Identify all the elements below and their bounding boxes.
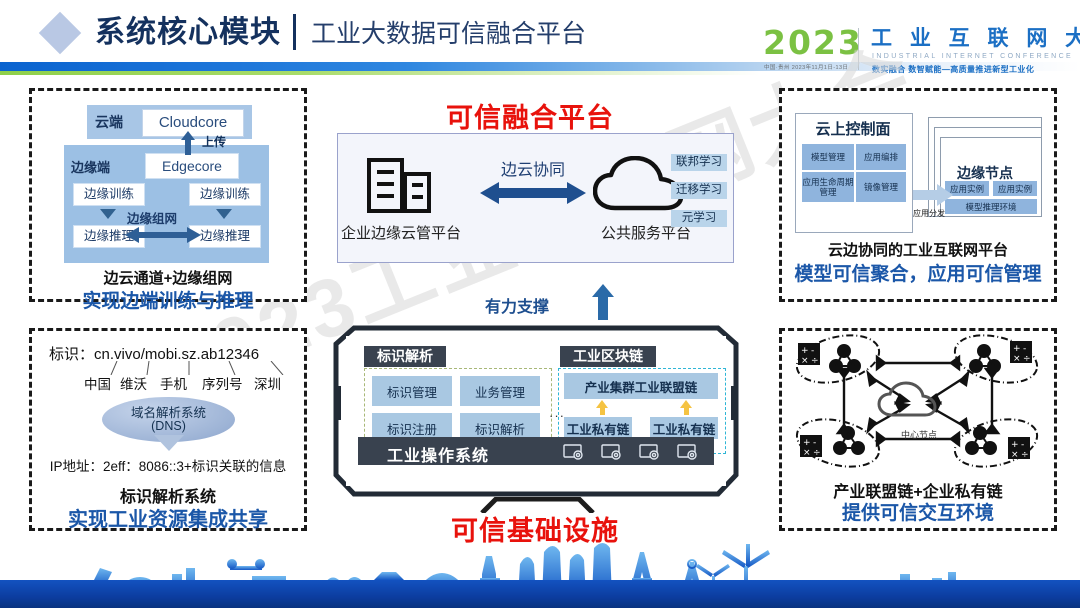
panel-cloud-edge-collaboration: 云上控制面 模型管理 应用编排 应用生命周期管理 镜像管理 边缘节点 应用实例 …	[779, 88, 1057, 302]
svg-text:÷: ÷	[813, 448, 821, 458]
control-cell-model-management: 模型管理	[801, 143, 855, 171]
control-cell-app-lifecycle: 应用生命周期管理	[801, 171, 855, 203]
title-separator	[293, 14, 296, 50]
svg-text:+: +	[801, 346, 809, 356]
identifier-legend-brand: 维沃	[120, 373, 147, 393]
svg-text:÷: ÷	[1023, 354, 1031, 364]
slide-canvas: 系统核心模块 工业大数据可信融合平台 2023 中国·贵州 2023年11月1日…	[0, 0, 1080, 608]
chain-ellipsis: ···	[549, 408, 565, 423]
upload-arrow-head-icon	[181, 131, 195, 140]
identifier-legend-serial: 序列号	[202, 373, 243, 393]
edge-right-down-arrow-icon	[216, 209, 232, 219]
edge-model-runtime: 模型推理环境	[945, 199, 1037, 214]
svg-text:+: +	[1011, 440, 1019, 450]
support-up-arrow-icon	[592, 284, 614, 320]
infra-cell-identifier-management: 标识管理	[372, 376, 452, 406]
chain-network-graph: +-×÷ +-×÷ +-×÷ +-×÷	[782, 331, 1054, 471]
panel4-caption-1: 云边协同的工业互联网平台	[782, 239, 1054, 260]
header-green-bar	[0, 71, 760, 75]
app-distribute-label: 应用分发	[913, 208, 945, 219]
chain-up-arrow-right-icon	[680, 400, 692, 408]
edge-networking-label: 边缘组网	[127, 208, 177, 227]
edge-train-right: 边缘训练	[189, 183, 261, 206]
control-cell-app-orchestration: 应用编排	[855, 143, 907, 171]
panel-fusion-platform: 企业边缘云管平台 边云协同 公共服务平台 联邦学习 迁移学习 元学习	[337, 133, 734, 263]
edge-app-instance-2: 应用实例	[993, 181, 1037, 196]
panel1-caption-2: 实现边端训练与推理	[32, 286, 304, 313]
logo-year-subtitle: 中国·贵州 2023年11月1日-13日	[764, 63, 848, 71]
logo-chinese-name: 工 业 互 联 网 大 会	[871, 27, 1080, 51]
panel-chain-network: +-×÷ +-×÷ +-×÷ +-×÷	[779, 328, 1057, 531]
svg-text:÷: ÷	[811, 356, 819, 366]
footer-skyline	[0, 538, 1080, 608]
page-title: 系统核心模块	[95, 13, 281, 53]
logo-year: 2023	[763, 26, 863, 59]
dns-down-arrow-icon	[154, 435, 184, 451]
svg-text:×: ×	[1011, 450, 1019, 460]
infra-cell-business-management: 业务管理	[460, 376, 540, 406]
svg-text:+: +	[1013, 344, 1021, 354]
logo-slogan: 数实融合 数智赋能—高质量推进新型工业化	[872, 64, 1034, 75]
logo-divider	[858, 28, 859, 70]
page-subtitle: 工业大数据可信融合平台	[311, 16, 586, 52]
public-cloud-icon	[593, 156, 683, 214]
infra-identifier-header: 标识解析	[364, 346, 446, 367]
edge-left-down-arrow-icon	[100, 209, 116, 219]
infra-private-chain-n: 工业私有链	[650, 417, 718, 439]
conference-logo: 2023 中国·贵州 2023年11月1日-13日 工 业 互 联 网 大 会 …	[763, 26, 1071, 76]
infra-alliance-chain: 产业集群工业联盟链	[564, 373, 718, 399]
svg-text:×: ×	[801, 356, 809, 366]
upload-label: 上传	[202, 133, 226, 150]
infra-private-chain-1: 工业私有链	[564, 417, 632, 439]
svg-text:-: -	[1023, 344, 1026, 354]
edge-tier-label: 边缘端	[71, 157, 110, 176]
ip-address-line: IP地址：2eff：8086::3+标识关联的信息	[41, 455, 295, 475]
edge-train-left: 边缘训练	[73, 183, 145, 206]
infra-blockchain-header: 工业区块链	[560, 346, 656, 367]
identifier-legend-device: 手机	[160, 373, 187, 393]
identifier-legend-country: 中国	[84, 373, 111, 393]
svg-text:+: +	[803, 438, 811, 448]
chain-up-arrow-left-icon	[596, 400, 608, 408]
support-label: 有力支撑	[485, 293, 549, 317]
tag-meta-learning: 元学习	[671, 210, 727, 227]
os-icons-group	[562, 443, 712, 461]
edgecore-node: Edgecore	[145, 153, 239, 179]
panel1-caption-1: 边云通道+边缘组网	[32, 267, 304, 288]
dns-label-en: (DNS)	[102, 419, 235, 433]
svg-text:-: -	[1021, 440, 1024, 450]
edge-cloud-sync-label: 边云协同	[478, 156, 588, 180]
logo-english-name: INDUSTRIAL INTERNET CONFERENCE	[872, 53, 1073, 60]
panel-edge-training: 云端 Cloudcore 边缘端 Edgecore 上传 边缘训练 边缘训练 边…	[29, 88, 307, 302]
control-plane-title: 云上控制面	[795, 118, 911, 139]
panel5-caption-2: 提供可信交互环境	[782, 498, 1054, 525]
diamond-bullet-icon	[39, 12, 81, 54]
panel2-caption-2: 实现工业资源集成共享	[32, 503, 304, 532]
svg-text:-: -	[813, 438, 816, 448]
center-node-label: 中心节点	[888, 428, 950, 441]
panel-trusted-infrastructure: 标识解析 标识管理 业务管理 标识注册 标识解析 工业区块链 产业集群工业联盟链…	[332, 324, 740, 499]
app-distribute-arrow-icon	[913, 184, 953, 206]
sync-double-arrow-icon	[480, 182, 586, 204]
identifier-legend-city: 深圳	[254, 373, 281, 393]
sea-band	[0, 580, 1080, 608]
tag-federated-learning: 联邦学习	[671, 154, 727, 171]
svg-text:-: -	[811, 346, 814, 356]
edge-networking-double-arrow-icon	[125, 227, 201, 243]
industrial-os-label: 工业操作系统	[387, 442, 489, 466]
svg-text:×: ×	[803, 448, 811, 458]
enterprise-platform-label: 企业边缘云管平台	[338, 222, 464, 243]
edge-node-title: 边缘节点	[930, 163, 1040, 183]
panel4-caption-2: 模型可信聚合，应用可信管理	[782, 259, 1054, 286]
cloud-tier-label: 云端	[95, 112, 123, 132]
panel-identifier-resolution: 标识：cn.vivo/mobi.sz.ab12346 中国 维沃 手机 序列号 …	[29, 328, 307, 531]
slide-header: 系统核心模块 工业大数据可信融合平台 2023 中国·贵州 2023年11月1日…	[0, 0, 1080, 80]
tag-transfer-learning: 迁移学习	[671, 182, 727, 199]
fusion-platform-title: 可信融合平台	[330, 96, 730, 135]
upload-arrow-stem	[185, 139, 191, 155]
svg-text:×: ×	[1013, 354, 1021, 364]
enterprise-building-icon	[366, 154, 432, 214]
control-cell-image-management: 镜像管理	[855, 171, 907, 203]
svg-text:÷: ÷	[1021, 450, 1029, 460]
